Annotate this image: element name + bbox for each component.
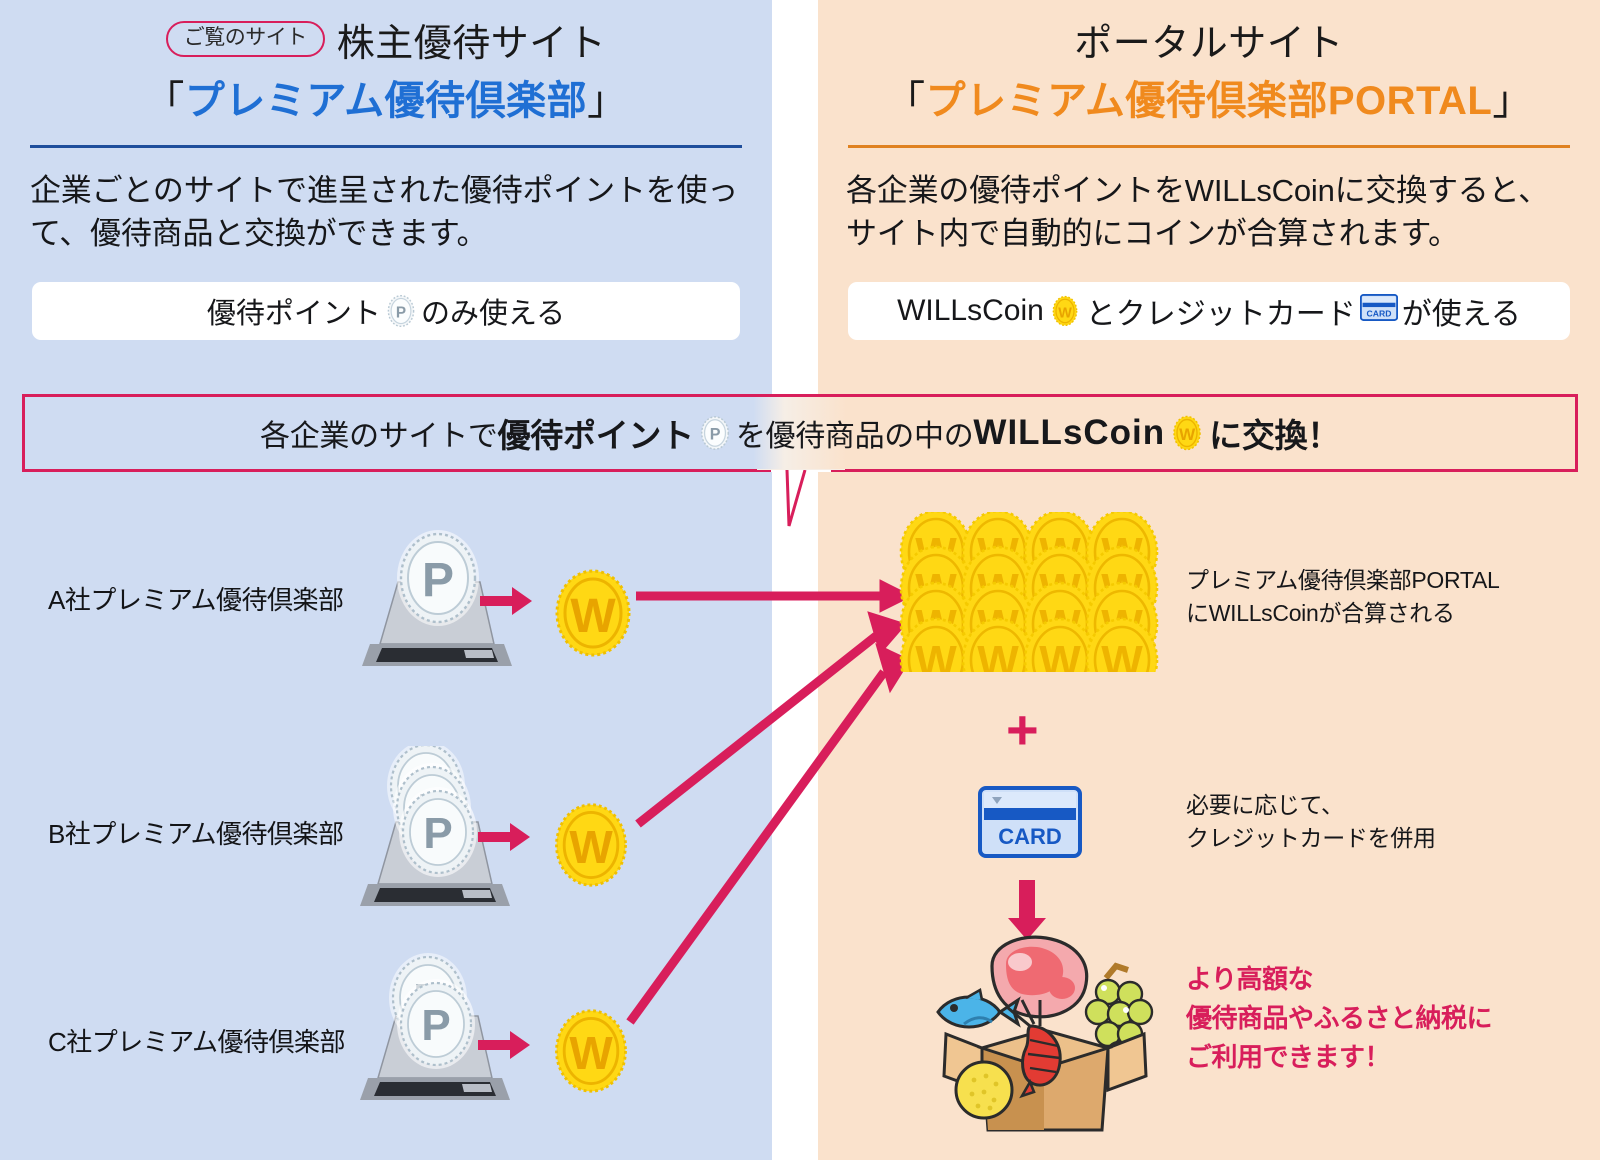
point-coin-icon: P <box>696 414 734 452</box>
credit-card-icon: CARD <box>1360 294 1398 329</box>
right-pill-text-before: WILLsCoin <box>897 294 1044 328</box>
card-label-line2: クレジットカードを併用 <box>1186 822 1586 855</box>
left-header-title: 株主優待サイト <box>337 12 607 67</box>
close-bracket: 」 <box>1492 79 1533 123</box>
left-pill-text-after: のみ使える <box>421 290 565 332</box>
right-header-title: ポータルサイト <box>1074 12 1344 67</box>
arrow-right-icon <box>478 1028 532 1067</box>
banner-text-2: 優待ポイント <box>498 409 694 457</box>
willscoin-icon: W <box>1047 293 1083 329</box>
svg-text:P: P <box>421 1001 450 1050</box>
left-pill-text-before: 優待ポイント <box>207 290 381 332</box>
infographic-canvas: ご覧のサイト 株主優待サイト 「プレミアム優待倶楽部」 ポータルサイト 「プレミ… <box>0 0 1600 1160</box>
left-usage-pill: 優待ポイント P のみ使える <box>32 282 740 340</box>
pile-label-line2: にWILLsCoinが合算される <box>1186 597 1586 630</box>
right-pill-text-after: が使える <box>1402 289 1521 333</box>
arrow-right-icon <box>480 584 534 623</box>
banner-text-3: を優待商品の中の <box>736 411 974 455</box>
right-description: 各企業の優待ポイントをWILLsCoinに交換すると、サイト内で自動的にコインが… <box>846 170 1572 256</box>
plus-sign: + <box>1006 702 1039 758</box>
right-header-brand-row: 「プレミアム優待倶楽部PORTAL」 <box>818 68 1600 126</box>
banner-text-4: WILLsCoin <box>973 413 1165 453</box>
willscoin-icon: W <box>546 800 636 895</box>
right-header-brand: プレミアム優待倶楽部PORTAL <box>926 79 1493 123</box>
food-label-line2: 優待商品やふるさと納税に <box>1186 999 1586 1038</box>
willscoin-icon: W <box>546 566 640 665</box>
coin-pile-icon: W <box>898 512 1168 672</box>
credit-card-icon: CARD <box>978 786 1082 863</box>
left-panel-header: ご覧のサイト 株主優待サイト 「プレミアム優待倶楽部」 <box>0 14 772 126</box>
row-label-a: A社プレミアム優待倶楽部 <box>48 580 344 617</box>
pile-label-line1: プレミアム優待倶楽部PORTAL <box>1186 564 1586 597</box>
food-label-line1: より高額な <box>1186 960 1586 999</box>
svg-text:W: W <box>1058 305 1072 321</box>
left-header-divider <box>30 145 742 148</box>
right-usage-pill: WILLsCoin W とクレジットカード CARD が使える <box>848 282 1570 340</box>
willscoin-icon: W <box>546 1006 636 1101</box>
right-panel-header: ポータルサイト 「プレミアム優待倶楽部PORTAL」 <box>818 14 1600 126</box>
card-label: 必要に応じて、 クレジットカードを併用 <box>1186 789 1586 856</box>
svg-text:W: W <box>570 590 616 643</box>
svg-text:CARD: CARD <box>1366 308 1391 318</box>
svg-text:P: P <box>423 809 452 858</box>
row-label-b: B社プレミアム優待倶楽部 <box>48 814 344 851</box>
right-header-divider <box>848 145 1570 148</box>
svg-text:CARD: CARD <box>998 824 1062 849</box>
arrow-right-icon <box>478 820 532 859</box>
open-bracket: 「 <box>885 79 926 123</box>
right-header-line1-row: ポータルサイト <box>818 14 1600 64</box>
svg-text:W: W <box>569 821 613 873</box>
exchange-callout-banner: 各企業のサイトで 優待ポイント P を優待商品の中の WILLsCoin W に… <box>22 394 1578 472</box>
banner-text-1: 各企業のサイトで <box>260 411 498 455</box>
food-label: より高額な 優待商品やふるさと納税に ご利用できます！ <box>1186 960 1586 1077</box>
willscoin-icon: W <box>1167 413 1207 453</box>
svg-text:W: W <box>569 1027 613 1079</box>
left-header-brand: プレミアム優待倶楽部 <box>185 79 587 123</box>
current-site-badge: ご覧のサイト <box>166 21 325 57</box>
company-row-a: A社プレミアム優待倶楽部 P <box>0 522 772 682</box>
svg-text:P: P <box>710 426 721 444</box>
svg-text:P: P <box>422 554 454 607</box>
company-row-b: B社プレミアム優待倶楽部 P P <box>0 752 772 912</box>
banner-speech-tail <box>757 469 845 529</box>
row-label-c: C社プレミアム優待倶楽部 <box>48 1022 345 1059</box>
close-bracket: 」 <box>587 79 628 123</box>
banner-text-5: に交換！ <box>1209 409 1340 457</box>
left-description: 企業ごとのサイトで進呈された優待ポイントを使って、優待商品と交換ができます。 <box>30 170 746 256</box>
left-header-line1-row: ご覧のサイト 株主優待サイト <box>0 14 772 64</box>
food-gift-box-icon <box>930 930 1160 1145</box>
open-bracket: 「 <box>144 79 185 123</box>
pile-label: プレミアム優待倶楽部PORTAL にWILLsCoinが合算される <box>1186 564 1586 629</box>
svg-text:W: W <box>1179 425 1196 444</box>
point-coin-icon: P <box>383 293 419 329</box>
food-label-line3: ご利用できます！ <box>1186 1038 1586 1077</box>
right-pill-text-middle: とクレジットカード <box>1086 289 1356 333</box>
company-row-c: C社プレミアム優待倶楽部 P P <box>0 960 772 1120</box>
left-header-brand-row: 「プレミアム優待倶楽部」 <box>0 68 772 126</box>
svg-text:P: P <box>396 304 406 321</box>
banner-text-row: 各企業のサイトで 優待ポイント P を優待商品の中の WILLsCoin W に… <box>260 409 1340 457</box>
card-label-line1: 必要に応じて、 <box>1186 789 1586 822</box>
